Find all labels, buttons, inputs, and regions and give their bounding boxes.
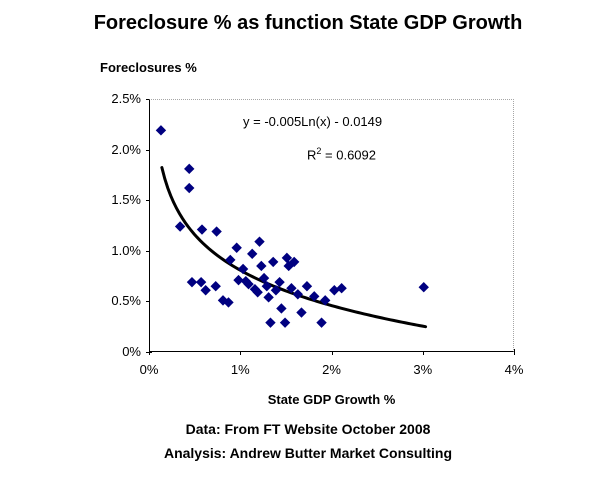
x-tick-label: 3%	[403, 362, 443, 377]
data-point	[336, 283, 346, 293]
data-point	[211, 281, 221, 291]
plot-area	[149, 99, 514, 352]
data-point	[211, 226, 221, 236]
data-point	[184, 164, 194, 174]
data-point	[196, 277, 206, 287]
y-tick-label: 0%	[97, 344, 141, 359]
data-point	[156, 125, 166, 135]
scatter-plot-svg	[150, 100, 515, 353]
data-point	[268, 257, 278, 267]
r-squared-symbol: R	[307, 147, 316, 162]
data-point	[200, 285, 210, 295]
y-tick-label: 1.0%	[97, 243, 141, 258]
data-point	[254, 236, 264, 246]
data-point	[184, 183, 194, 193]
data-point	[329, 285, 339, 295]
footer-analysis-credit: Analysis: Andrew Butter Market Consultin…	[0, 445, 616, 461]
y-tick-label: 2.0%	[97, 142, 141, 157]
x-tick-label: 4%	[494, 362, 534, 377]
chart-figure: Foreclosure % as function State GDP Grow…	[0, 0, 616, 491]
y-axis-title: Foreclosures %	[100, 60, 197, 75]
y-tick-label: 2.5%	[97, 91, 141, 106]
data-point	[296, 307, 306, 317]
trendline-path	[162, 168, 426, 327]
data-point	[197, 224, 207, 234]
data-point	[302, 281, 312, 291]
page-title: Foreclosure % as function State GDP Grow…	[0, 12, 616, 35]
data-point	[256, 261, 266, 271]
y-tick-label: 1.5%	[97, 192, 141, 207]
x-tick-label: 1%	[220, 362, 260, 377]
data-point-markers	[156, 125, 429, 328]
data-point	[419, 282, 429, 292]
data-point	[280, 317, 290, 327]
r-squared-annotation: R2 = 0.6092	[307, 146, 376, 162]
x-tick-label: 2%	[312, 362, 352, 377]
data-point	[247, 249, 257, 259]
data-point	[231, 243, 241, 253]
data-point	[265, 317, 275, 327]
y-tick-label: 0.5%	[97, 293, 141, 308]
data-point	[316, 317, 326, 327]
footer-data-source: Data: From FT Website October 2008	[0, 421, 616, 437]
r-squared-value: = 0.6092	[325, 147, 376, 162]
data-point	[263, 292, 273, 302]
x-tick-label: 0%	[129, 362, 169, 377]
x-axis-title: State GDP Growth %	[149, 392, 514, 407]
data-point	[276, 303, 286, 313]
r-squared-exponent: 2	[316, 146, 321, 156]
data-point	[187, 277, 197, 287]
trendline-equation: y = -0.005Ln(x) - 0.0149	[243, 114, 382, 129]
